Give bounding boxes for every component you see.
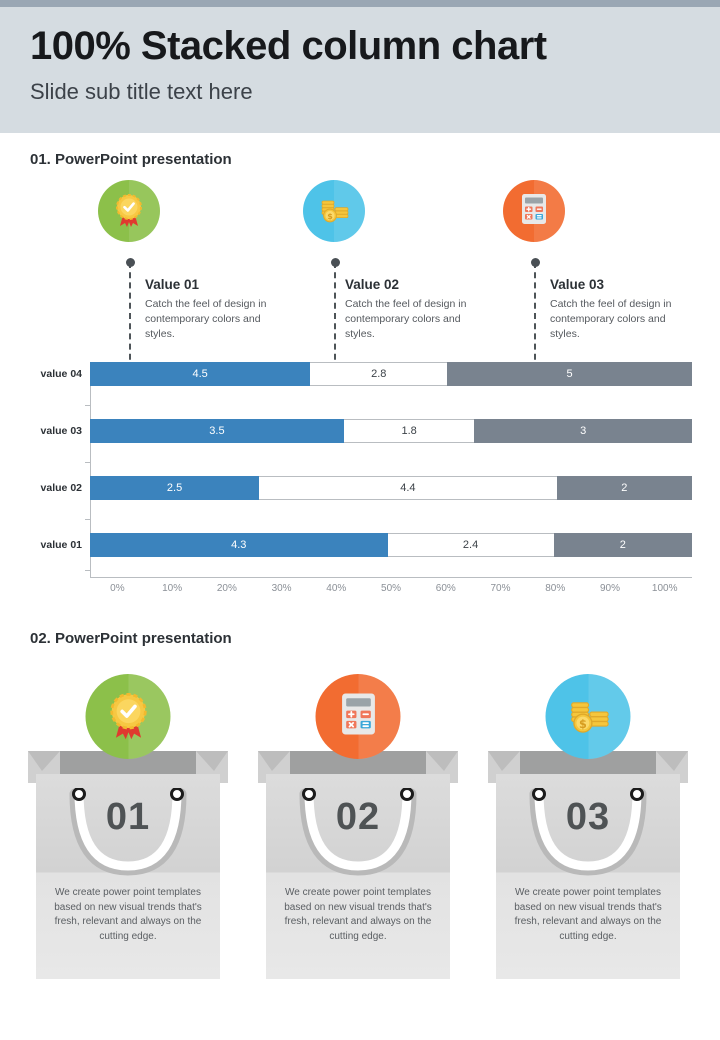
- callout-text-3: Value 03 Catch the feel of design in con…: [550, 277, 695, 342]
- chart-x-tick: 80%: [528, 583, 583, 594]
- chart-x-tick: 30%: [254, 583, 309, 594]
- chart-bar-segment[interactable]: 2.5: [90, 476, 259, 500]
- chart-axis-tick: [85, 462, 90, 463]
- connector-dot-top: [331, 258, 340, 267]
- chart-x-tick: 40%: [309, 583, 364, 594]
- chart-bar-segment[interactable]: 1.8: [344, 419, 475, 443]
- coins-icon: $: [560, 686, 616, 747]
- section-02-wrap: 02. PowerPoint presentation: [0, 630, 720, 647]
- chart-row: value 044.52.85: [0, 362, 720, 386]
- callout-title: Value 02: [345, 277, 490, 292]
- svg-text:$: $: [579, 718, 587, 731]
- callout-description: Catch the feel of design in contemporary…: [550, 297, 695, 342]
- chart-x-tick: 50%: [364, 583, 419, 594]
- stacked-bar-chart: value 044.52.85value 033.51.83value 022.…: [0, 345, 720, 600]
- callout-text-2: Value 02 Catch the feel of design in con…: [345, 277, 490, 342]
- top-accent-strip: [0, 0, 720, 7]
- bag-icon-01[interactable]: [86, 674, 171, 759]
- bag-body: 01 We create power point templates based…: [36, 774, 220, 979]
- chart-row-label: value 04: [0, 362, 82, 386]
- chart-x-tick: 10%: [145, 583, 200, 594]
- chart-row-label: value 02: [0, 476, 82, 500]
- callout-icon-3[interactable]: [503, 180, 565, 242]
- chart-x-tick: 0%: [90, 583, 145, 594]
- section-heading-02: 02. PowerPoint presentation: [30, 630, 720, 647]
- bag-body: 02 We create power point templates based…: [266, 774, 450, 979]
- chart-row-label: value 01: [0, 533, 82, 557]
- connector-dot-top: [531, 258, 540, 267]
- chart-x-tick-labels: 0%10%20%30%40%50%60%70%80%90%100%: [90, 583, 692, 594]
- chart-bar-segment[interactable]: 2: [557, 476, 692, 500]
- chart-x-tick: 60%: [418, 583, 473, 594]
- chart-bar-segment[interactable]: 3.5: [90, 419, 344, 443]
- bag-description: We create power point templates based on…: [54, 886, 202, 944]
- bag-handle-icon: [293, 788, 423, 888]
- chart-bar-track: 4.32.42: [90, 533, 692, 557]
- bag-body: 03 We create power point templates based…: [496, 774, 680, 979]
- bag-handle-icon: [63, 788, 193, 888]
- chart-axis-tick: [85, 519, 90, 520]
- callout-description: Catch the feel of design in contemporary…: [345, 297, 490, 342]
- award-badge-icon: [100, 686, 156, 747]
- callout-icon-2[interactable]: $: [303, 180, 365, 242]
- coins-icon: $: [314, 189, 354, 234]
- chart-bar-segment[interactable]: 2.4: [388, 533, 554, 557]
- callout-description: Catch the feel of design in contemporary…: [145, 297, 290, 342]
- bag-icon-02[interactable]: [316, 674, 401, 759]
- calculator-icon: [515, 190, 553, 233]
- chart-x-tick: 100%: [637, 583, 692, 594]
- chart-row: value 022.54.42: [0, 476, 720, 500]
- chart-axis-tick: [85, 405, 90, 406]
- slide-header: 100% Stacked column chart Slide sub titl…: [0, 7, 720, 133]
- chart-x-tick: 90%: [583, 583, 638, 594]
- connector-dot-top: [126, 258, 135, 267]
- page-title: 100% Stacked column chart: [30, 7, 720, 67]
- chart-bar-track: 2.54.42: [90, 476, 692, 500]
- bag-icon-03[interactable]: $: [546, 674, 631, 759]
- chart-bar-segment[interactable]: 5: [447, 362, 692, 386]
- award-badge-icon: [109, 189, 149, 234]
- chart-bar-segment[interactable]: 2.8: [310, 362, 447, 386]
- callout-title: Value 03: [550, 277, 695, 292]
- chart-axis-tick: [85, 570, 90, 571]
- chart-bar-segment[interactable]: 4.3: [90, 533, 388, 557]
- chart-bar-segment[interactable]: 2: [554, 533, 692, 557]
- calculator-icon: [332, 688, 384, 745]
- bag-description: We create power point templates based on…: [514, 886, 662, 944]
- bag-description: We create power point templates based on…: [284, 886, 432, 944]
- chart-bar-segment[interactable]: 4.5: [90, 362, 310, 386]
- chart-bar-track: 4.52.85: [90, 362, 692, 386]
- callout-text-1: Value 01 Catch the feel of design in con…: [145, 277, 290, 342]
- bag-handle-icon: [523, 788, 653, 888]
- svg-text:$: $: [327, 212, 333, 221]
- chart-bar-track: 3.51.83: [90, 419, 692, 443]
- chart-bar-segment[interactable]: 3: [474, 419, 692, 443]
- chart-bar-segment[interactable]: 4.4: [259, 476, 557, 500]
- page-subtitle: Slide sub title text here: [30, 67, 720, 105]
- chart-row: value 014.32.42: [0, 533, 720, 557]
- chart-x-tick: 70%: [473, 583, 528, 594]
- callout-title: Value 01: [145, 277, 290, 292]
- chart-row-label: value 03: [0, 419, 82, 443]
- bag-cards-row: 01 We create power point templates based…: [0, 674, 720, 1034]
- chart-row: value 033.51.83: [0, 419, 720, 443]
- callout-icon-1[interactable]: [98, 180, 160, 242]
- chart-x-axis: [90, 577, 692, 578]
- section-heading-01: 01. PowerPoint presentation: [30, 151, 720, 168]
- chart-x-tick: 20%: [199, 583, 254, 594]
- callout-icon-row: $: [0, 180, 720, 270]
